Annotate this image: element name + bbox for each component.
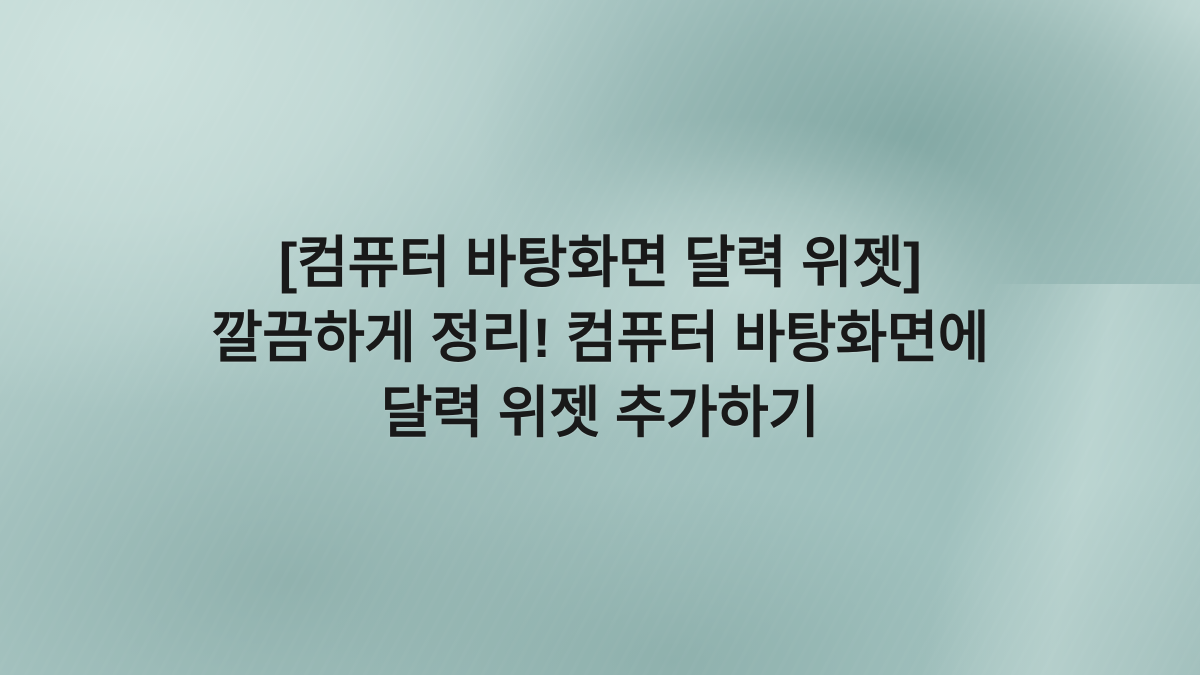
headline-line-3: 달력 위젯 추가하기 xyxy=(0,375,1200,450)
headline-line-1: [컴퓨터 바탕화면 달력 위젯] xyxy=(0,225,1200,300)
headline-line-2: 깔끔하게 정리! 컴퓨터 바탕화면에 xyxy=(0,300,1200,375)
headline-block: [컴퓨터 바탕화면 달력 위젯] 깔끔하게 정리! 컴퓨터 바탕화면에 달력 위… xyxy=(0,225,1200,450)
thumbnail-banner: [컴퓨터 바탕화면 달력 위젯] 깔끔하게 정리! 컴퓨터 바탕화면에 달력 위… xyxy=(0,0,1200,675)
